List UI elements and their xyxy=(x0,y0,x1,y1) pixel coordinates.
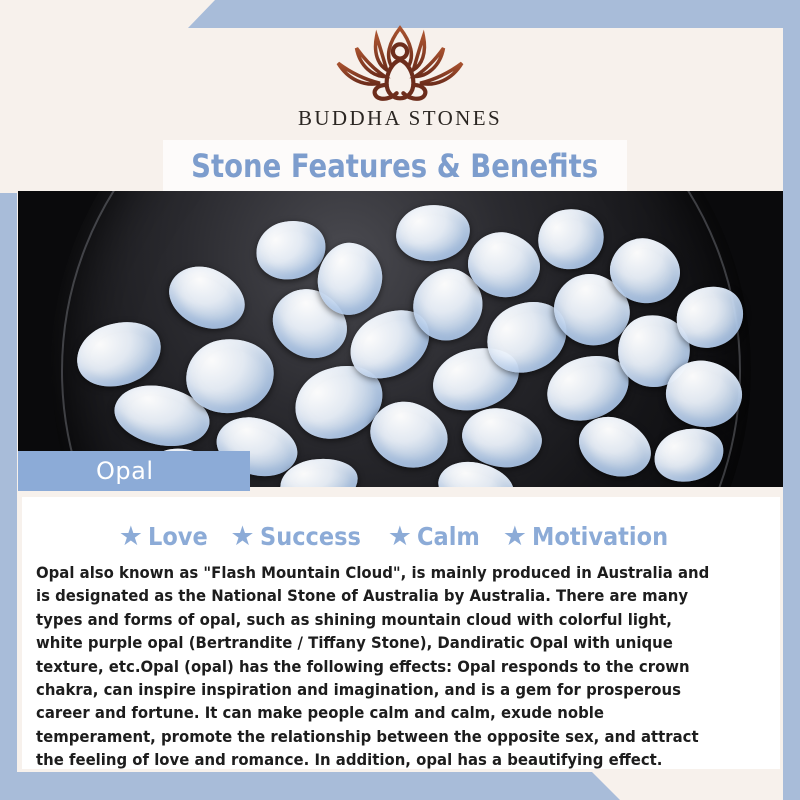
stone-cluster xyxy=(18,191,783,487)
star-icon: ★ xyxy=(388,523,412,550)
brand-name: BUDDHA STONES xyxy=(298,106,502,131)
benefit-label: Calm xyxy=(417,522,480,551)
stone-name-label: Opal xyxy=(96,457,154,485)
star-icon: ★ xyxy=(230,523,254,550)
lotus-meditation-icon xyxy=(316,18,484,110)
stone xyxy=(69,311,170,397)
benefit-label: Motivation xyxy=(532,522,668,551)
stone-photo xyxy=(18,191,783,487)
benefit-item-success: ★ Success xyxy=(230,522,371,551)
stone xyxy=(160,256,255,341)
stone-name-tag: Opal xyxy=(18,451,250,491)
benefit-item-motivation: ★ Motivation xyxy=(503,522,683,551)
benefits-row: ★ Love ★ Success ★ Calm ★ Motivation xyxy=(22,516,780,556)
stone xyxy=(532,203,609,275)
benefit-label: Love xyxy=(148,522,208,551)
benefit-item-calm: ★ Calm xyxy=(388,522,487,551)
poster-root: BUDDHA STONES Stone Features & Benefits xyxy=(0,0,800,800)
brand-logo: BUDDHA STONES xyxy=(0,18,800,140)
page-title: Stone Features & Benefits xyxy=(192,147,599,185)
benefit-item-love: ★ Love xyxy=(119,522,215,551)
heading-banner: Stone Features & Benefits xyxy=(163,140,627,191)
benefit-label: Success xyxy=(260,522,361,551)
star-icon: ★ xyxy=(119,523,143,550)
description-text: Opal also known as "Flash Mountain Cloud… xyxy=(36,561,715,772)
stone xyxy=(393,201,472,264)
bottom-accent-band xyxy=(0,772,800,800)
star-icon: ★ xyxy=(503,523,527,550)
stone xyxy=(649,421,730,487)
